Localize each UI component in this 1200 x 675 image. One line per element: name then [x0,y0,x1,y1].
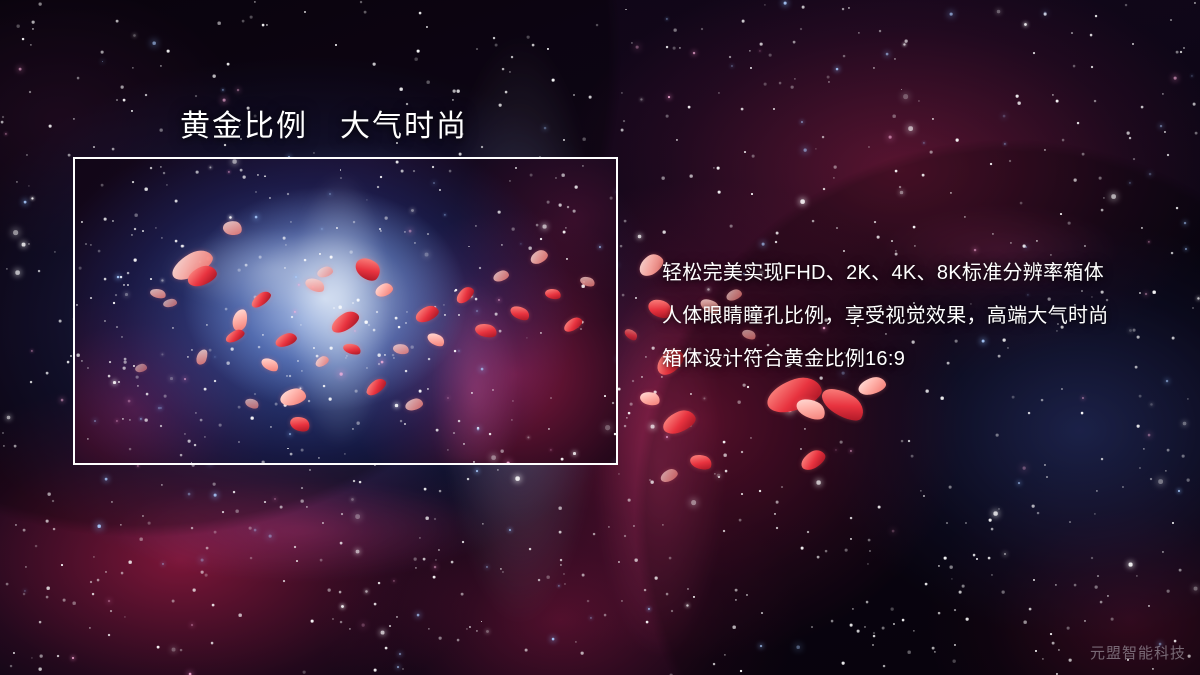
petal [224,327,246,345]
watermark: 元盟智能科技 [1090,642,1186,663]
petal [303,275,326,294]
framed-photo [73,157,618,465]
petal [249,289,273,311]
petal [579,275,596,289]
petal [413,303,440,325]
petal [492,269,510,283]
petal [195,348,210,366]
petal [562,315,585,335]
petal [373,281,394,298]
petal [342,341,362,356]
petal [544,287,562,301]
petal [288,414,312,434]
petal [162,298,177,308]
petal [328,308,362,337]
petal [274,331,299,349]
petal [364,376,389,398]
body-line-2: 人体眼睛瞳孔比例，享受视觉效果，高端大气时尚 [662,295,1182,338]
body-line-1: 轻松完美实现FHD、2K、4K、8K标准分辨率箱体 [662,252,1182,295]
page-title: 黄金比例 大气时尚 [180,101,468,145]
petal [222,219,243,236]
petal [425,330,446,349]
petal [453,284,476,306]
petal [392,342,410,355]
petal [314,354,331,369]
petal [528,248,549,266]
petal [149,287,167,300]
body-line-3: 箱体设计符合黄金比例16:9 [662,338,1182,381]
body-copy: 轻松完美实现FHD、2K、4K、8K标准分辨率箱体 人体眼睛瞳孔比例，享受视觉效… [662,252,1182,381]
petal [134,363,147,373]
petal [259,355,280,374]
petal [352,253,385,285]
petal [474,321,499,339]
petal [279,386,308,407]
slide-canvas: 黄金比例 大气时尚 轻松完美实现FHD、2K、4K、8K标准分辨率箱体 人体眼睛… [0,0,1200,675]
petal [316,265,334,279]
photo-petal-layer [75,159,616,463]
petal [244,396,260,410]
petal [404,397,424,412]
petal [508,303,531,323]
